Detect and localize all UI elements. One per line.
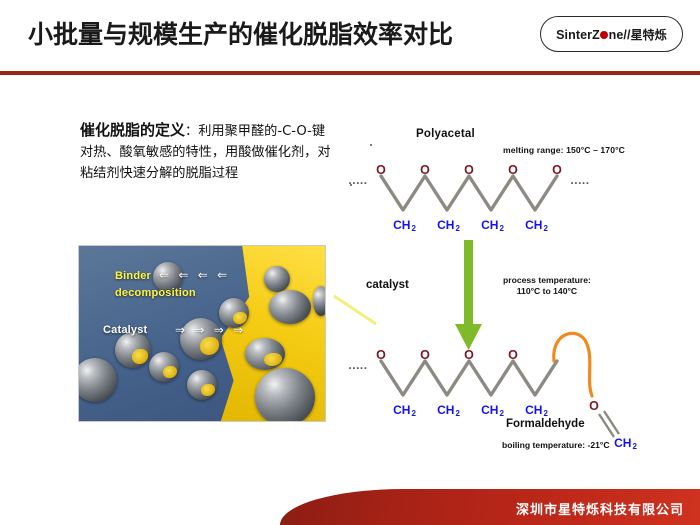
ch2-group: CH2 — [525, 218, 547, 232]
definition-paragraph: 催化脱脂的定义：利用聚甲醛的-C-O-键对热、酸氧敏感的特性，用酸做催化剂，对粘… — [80, 120, 332, 184]
polyacetal-label: Polyacetal — [416, 128, 475, 140]
boiling-temperature-label: boiling temperature: -21°C — [502, 440, 610, 450]
formaldehyde-carbon-group: CH2 — [614, 436, 636, 450]
brand-logo: SinterZne//星特烁 — [540, 16, 683, 52]
stray-dot — [350, 184, 352, 186]
header-divider — [0, 71, 700, 75]
process-temperature-line2: 110°C to 140°C — [517, 286, 577, 296]
brand-logo-chinese: 星特烁 — [631, 28, 667, 42]
powder-sphere — [313, 286, 326, 316]
ch2-group: CH2 — [525, 403, 547, 417]
top-chain-bonds — [381, 176, 557, 210]
catalyst-pointer-line — [334, 296, 376, 324]
ch2-group: CH2 — [393, 218, 415, 232]
powder-sphere — [115, 332, 151, 368]
powder-sphere — [187, 370, 217, 400]
oxygen-atom: O — [464, 163, 474, 177]
powder-sphere — [245, 338, 285, 370]
ch2-group: CH2 — [437, 218, 459, 232]
oxygen-atom: O — [420, 348, 430, 362]
oxygen-atom: O — [376, 163, 386, 177]
footer-company-name: 深圳市星特烁科技有限公司 — [516, 499, 684, 518]
powder-sphere — [264, 266, 290, 292]
powder-sphere — [149, 352, 179, 382]
brand-logo-prefix: SinterZ — [556, 28, 600, 42]
stray-dot — [370, 144, 372, 146]
brand-logo-dot-icon — [600, 31, 608, 39]
oxygen-atom: O — [508, 163, 518, 177]
page-title: 小批量与规模生产的催化脱脂效率对比 — [28, 18, 528, 52]
formaldehyde-oxygen-atom: O — [589, 399, 599, 413]
ch2-group: CH2 — [481, 403, 503, 417]
oxygen-atom: O — [464, 348, 474, 362]
formaldehyde-curve-arrow-icon — [554, 333, 592, 396]
brand-logo-suffix: ne// — [609, 28, 631, 42]
photo-label-binder-line2: decomposition — [115, 287, 196, 299]
powder-sphere — [269, 290, 311, 324]
catalyst-arrows-icon: ⇒ ⇒ ⇒ ⇒ — [175, 323, 246, 337]
bottom-chain-left-ellipsis: ..... — [348, 358, 367, 372]
bottom-chain-bonds — [381, 361, 557, 395]
ch2-group: CH2 — [481, 218, 503, 232]
ch2-group: CH2 — [393, 403, 415, 417]
formaldehyde-double-bond — [599, 411, 619, 437]
oxygen-atom: O — [376, 348, 386, 362]
slide: 小批量与规模生产的催化脱脂效率对比 SinterZne//星特烁 催化脱脂的定义… — [0, 0, 700, 525]
formaldehyde-label: Formaldehyde — [506, 418, 585, 430]
definition-lead: 催化脱脂的定义 — [80, 121, 185, 139]
process-temperature-label: process temperature: 110°C to 140°C — [503, 275, 591, 297]
oxygen-atom: O — [552, 163, 562, 177]
binder-decomposition-photo: Binder decomposition ⇐ ⇐ ⇐ ⇐ Catalyst ⇒ … — [78, 245, 326, 422]
powder-sphere — [255, 368, 315, 422]
binder-arrows-icon: ⇐ ⇐ ⇐ ⇐ — [159, 268, 230, 282]
catalyst-step-label: catalyst — [366, 279, 409, 291]
ch2-group: CH2 — [437, 403, 459, 417]
photo-label-binder-line1: Binder — [115, 270, 151, 282]
chemistry-diagram: ..... O O O O O ..... CH2 CH2 CH2 CH2 ..… — [348, 118, 696, 468]
top-chain-right-ellipsis: ..... — [570, 173, 589, 187]
footer: 深圳市星特烁科技有限公司 — [0, 489, 700, 525]
process-arrow-icon — [455, 240, 482, 350]
oxygen-atom: O — [420, 163, 430, 177]
oxygen-atom: O — [508, 348, 518, 362]
photo-label-catalyst: Catalyst — [103, 324, 147, 336]
melting-range-label: melting range: 150°C – 170°C — [503, 145, 625, 155]
brand-logo-text: SinterZne//星特烁 — [556, 26, 667, 43]
process-temperature-line1: process temperature: — [503, 275, 591, 285]
